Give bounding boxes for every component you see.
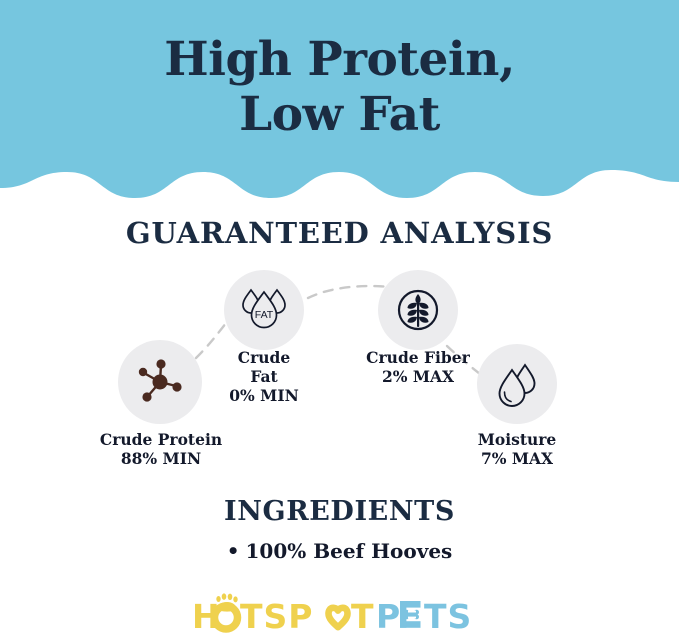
nutrient-name-crude-protein: Crude Protein	[100, 430, 222, 449]
nutrient-bubble-crude-fiber	[378, 270, 458, 350]
nutrient-label-moisture: Moisture 7% MAX	[402, 430, 632, 468]
logo-text-p: P	[376, 597, 401, 636]
wheat-fiber-icon	[393, 285, 443, 335]
hero-title: High Protein, Low Fat	[0, 32, 679, 142]
ingredients-list-item: •100% Beef Hooves	[0, 538, 679, 564]
brand-logo[interactable]: H TSP T P TS	[0, 592, 679, 636]
fat-icon-label: FAT	[255, 309, 274, 321]
hero-banner: High Protein, Low Fat	[0, 0, 679, 205]
nutrient-name-crude-fat-line1: Crude	[238, 348, 290, 367]
nutrient-value-crude-protein: 88% MIN	[36, 449, 286, 468]
nutrient-diagram: Crude Protein 88% MIN FAT Crude Fat 0% M…	[0, 262, 679, 477]
heart-icon	[328, 608, 347, 627]
logo-letter-e-bone	[400, 601, 421, 628]
hero-title-line2: Low Fat	[0, 87, 679, 142]
bullet-icon: •	[227, 539, 240, 563]
hotspotpets-logo-icon[interactable]: H TSP T P TS	[190, 592, 490, 636]
guaranteed-analysis-heading: GUARANTEED ANALYSIS	[0, 216, 679, 250]
nutrient-name-crude-fiber: Crude Fiber	[366, 348, 470, 367]
ingredients-heading: INGREDIENTS	[0, 496, 679, 527]
nutrient-name-moisture: Moisture	[478, 430, 557, 449]
logo-text-ts: TS	[424, 597, 472, 636]
logo-text-t: T	[351, 597, 375, 636]
logo-text-tsp: TSP	[240, 597, 313, 636]
ingredients-list: •100% Beef Hooves	[0, 538, 679, 564]
nutrient-bubble-moisture	[477, 344, 557, 424]
nutrient-label-crude-protein: Crude Protein 88% MIN	[36, 430, 286, 468]
nutrient-value-crude-fat: 0% MIN	[149, 386, 379, 405]
moisture-droplets-icon	[492, 359, 542, 409]
hero-title-line1: High Protein,	[164, 32, 515, 87]
ingredient-text: 100% Beef Hooves	[245, 539, 452, 563]
nutrient-bubble-crude-fat: FAT	[224, 270, 304, 350]
fat-droplets-icon: FAT	[238, 284, 290, 336]
nutrient-value-moisture: 7% MAX	[402, 449, 632, 468]
